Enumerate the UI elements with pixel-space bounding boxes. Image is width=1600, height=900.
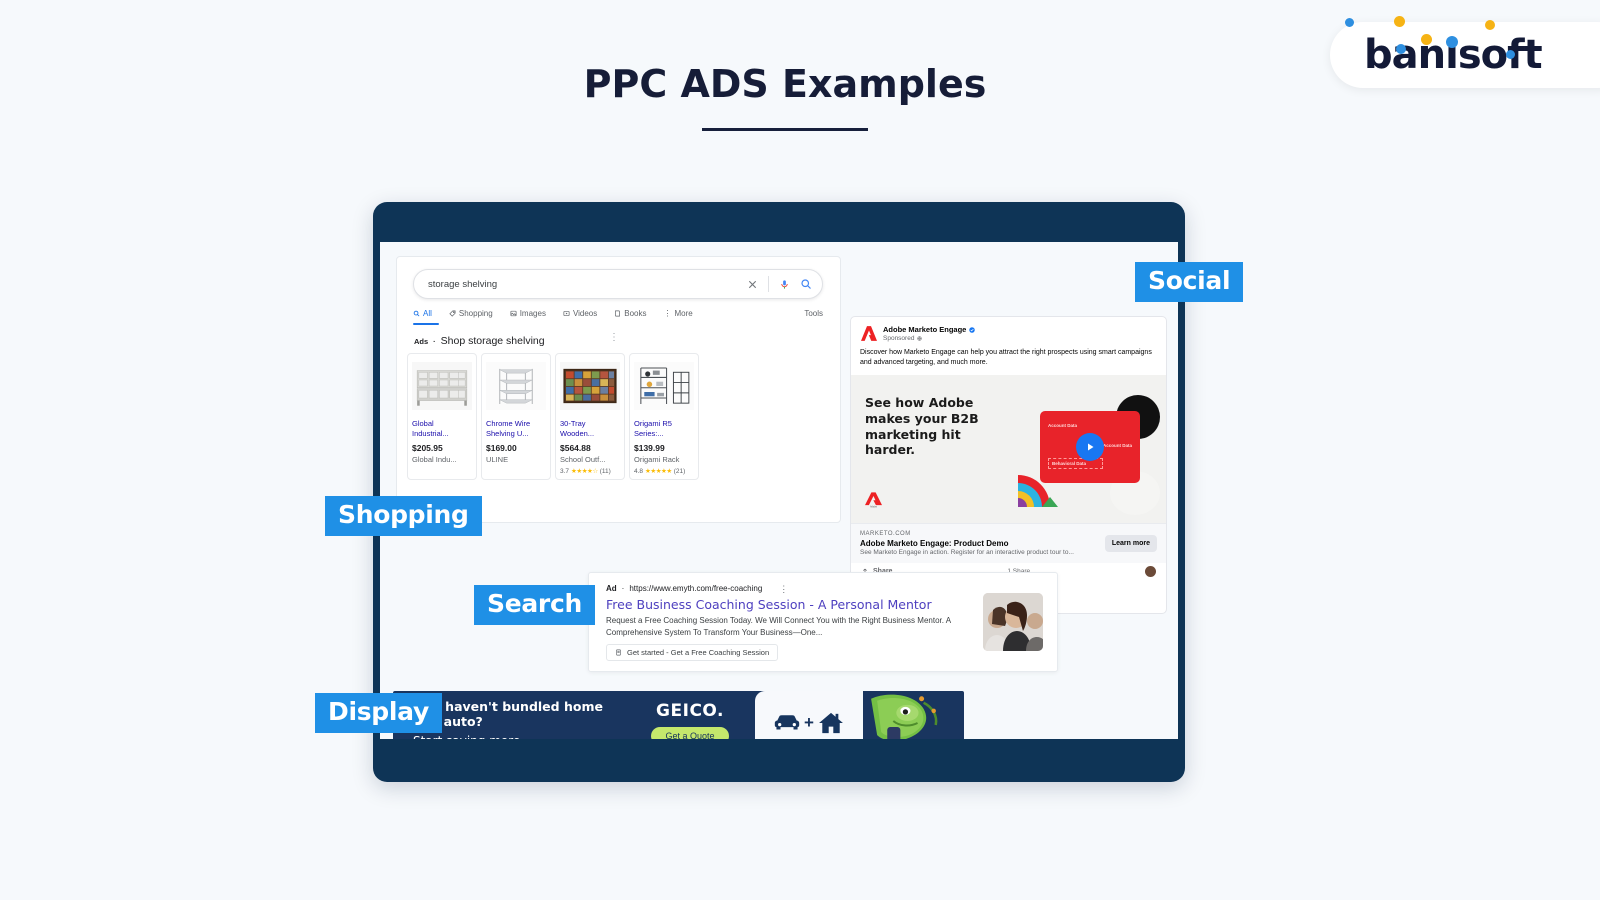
product-price: $139.99 [634, 443, 694, 453]
label-display: Display [315, 693, 442, 733]
serp-tab-label: All [423, 309, 432, 318]
social-ad-headline: Adobe Marketo Engage: Product Demo [860, 539, 1105, 548]
social-ad-body-text: Discover how Marketo Engage can help you… [851, 346, 1166, 375]
close-icon[interactable] [747, 279, 758, 290]
serp-tab-active-underline [413, 323, 439, 325]
video-thumbnail[interactable]: Account Data Account Data Behavioral Dat… [1040, 411, 1140, 483]
product-store: Origami Rack [634, 455, 694, 464]
product-rating: 4.8 ★★★★★ (21) [634, 467, 694, 475]
shopping-card[interactable]: 30-Tray Wooden... $564.88 School Outf...… [555, 353, 625, 480]
logo-dot-icon [1396, 44, 1406, 54]
video-icon [563, 310, 570, 317]
product-price: $169.00 [486, 443, 546, 453]
serp-tab-label: Videos [573, 309, 597, 318]
serp-tools-button[interactable]: Tools [804, 309, 823, 318]
social-page-name: Adobe Marketo Engage [883, 325, 966, 334]
house-icon [818, 712, 844, 734]
ad-tag-label: Ad [606, 584, 617, 593]
car-icon [774, 714, 800, 732]
product-review-count: (11) [600, 468, 611, 475]
shopping-cards-row: Global Industrial... $205.95 Global Indu… [407, 353, 699, 480]
microphone-icon[interactable] [779, 279, 790, 290]
geico-logo: GEICO. [656, 701, 724, 721]
serp-tab-all[interactable]: All [413, 309, 432, 318]
display-ad-brand-block: GEICO. Get a Quote [625, 701, 755, 739]
learn-more-button[interactable]: Learn more [1105, 535, 1157, 552]
search-ad-card: Ad · https://www.emyth.com/free-coaching… [588, 572, 1058, 672]
search-input[interactable]: storage shelving [428, 279, 747, 290]
label-shopping: Shopping [325, 496, 482, 536]
monitor-screen: storage shelving All Shopping [380, 242, 1178, 739]
display-ad-line1: Still haven't bundled home and auto? [413, 699, 625, 729]
social-ad-subtext: See Marketo Engage in action. Register f… [860, 549, 1105, 556]
gecko-mascot [863, 691, 964, 739]
ad-options-icon[interactable]: ⋮ [779, 585, 788, 593]
shopping-card[interactable]: Chrome Wire Shelving U... $169.00 ULINE [481, 353, 551, 480]
avatar[interactable] [1145, 566, 1156, 577]
search-icon [413, 310, 420, 317]
label-search: Search [474, 585, 595, 625]
ad-separator: · [622, 584, 625, 593]
video-label: Account Data [1048, 423, 1077, 428]
stars-icon: ★★★★☆ [571, 467, 598, 475]
product-price: $205.95 [412, 443, 472, 453]
play-button-icon[interactable] [1076, 433, 1104, 461]
product-image [412, 358, 472, 414]
product-review-count: (21) [674, 468, 686, 475]
ads-title-label: Shop storage shelving [441, 335, 545, 347]
serp-tab-shopping[interactable]: Shopping [449, 309, 493, 318]
social-ad-header: Adobe Marketo Engage Sponsored [851, 317, 1166, 346]
logo-dot-icon [1345, 18, 1354, 27]
book-icon [614, 310, 621, 317]
svg-text:Adobe: Adobe [870, 506, 877, 508]
display-ad-line2: Start saving more. [413, 734, 625, 740]
video-label: Account Data [1103, 443, 1132, 448]
logo-dot-icon [1485, 20, 1495, 30]
social-ad-card: Adobe Marketo Engage Sponsored Discover … [850, 316, 1167, 614]
search-icon[interactable] [800, 278, 812, 290]
product-name[interactable]: Chrome Wire Shelving U... [486, 419, 546, 440]
stars-icon: ★★★★★ [645, 467, 672, 475]
ads-tag-label: Ads [414, 337, 428, 346]
creative-headline: See how Adobe makes your B2B marketing h… [865, 395, 1015, 458]
search-ad-sitelink-label: Get started - Get a Free Coaching Sessio… [627, 648, 769, 657]
social-ad-footer: MARKETO.COM Adobe Marketo Engage: Produc… [851, 523, 1166, 563]
display-ad-banner[interactable]: Still haven't bundled home and auto? Sta… [393, 691, 964, 739]
social-page-name-row[interactable]: Adobe Marketo Engage [883, 325, 975, 334]
product-store: School Outf... [560, 455, 620, 464]
serp-tab-images[interactable]: Images [510, 309, 546, 318]
product-rating: 3.7 ★★★★☆ (11) [560, 467, 620, 475]
shopping-card[interactable]: Origami R5 Series:... $139.99 Origami Ra… [629, 353, 699, 480]
page-title: PPC ADS Examples [0, 62, 1570, 106]
monitor-frame: storage shelving All Shopping [373, 202, 1185, 782]
tag-icon [449, 310, 456, 317]
verified-badge-icon [969, 327, 975, 333]
product-image [634, 358, 694, 414]
serp-tab-label: More [675, 309, 693, 318]
serp-nav: All Shopping Images Videos Books ⋮ More [413, 309, 823, 318]
shopping-ads-header: Ads · Shop storage shelving [414, 335, 545, 347]
product-price: $564.88 [560, 443, 620, 453]
social-ad-creative[interactable]: See how Adobe makes your B2B marketing h… [851, 375, 1166, 523]
serp-tab-books[interactable]: Books [614, 309, 646, 318]
social-ad-domain: MARKETO.COM [860, 531, 1105, 537]
adobe-logo-icon [860, 325, 877, 342]
search-ad-url-row: Ad · https://www.emyth.com/free-coaching… [589, 573, 1057, 593]
product-store: Global Indu... [412, 455, 472, 464]
more-icon: ⋮ [664, 309, 672, 318]
search-ad-sitelink[interactable]: Get started - Get a Free Coaching Sessio… [606, 644, 778, 661]
search-ad-thumbnail [983, 593, 1043, 651]
product-image [560, 358, 620, 414]
search-ad-url[interactable]: https://www.emyth.com/free-coaching [629, 584, 762, 593]
divider [768, 276, 769, 292]
ads-separator: · [433, 337, 436, 346]
serp-tab-label: Shopping [459, 309, 493, 318]
serp-tab-more[interactable]: ⋮ More [664, 309, 693, 318]
sponsored-label: Sponsored [883, 335, 914, 342]
globe-icon [917, 336, 922, 341]
ads-options-icon[interactable]: ⋮ [609, 333, 619, 343]
google-serp-card: storage shelving All Shopping [396, 256, 841, 523]
title-underline [702, 128, 868, 131]
label-social: Social [1135, 262, 1243, 302]
document-icon [615, 649, 622, 656]
product-store: ULINE [486, 455, 546, 464]
logo-dot-icon [1394, 16, 1405, 27]
search-bar[interactable]: storage shelving [413, 269, 823, 299]
product-name[interactable]: Origami R5 Series:... [634, 419, 694, 440]
product-image [486, 358, 546, 414]
logo-dot-icon [1421, 34, 1432, 45]
logo-dot-icon [1446, 36, 1458, 48]
product-rating-value: 3.7 [560, 468, 569, 475]
social-sponsored-row: Sponsored [883, 335, 975, 342]
plus-icon: + [804, 713, 814, 733]
serp-tab-videos[interactable]: Videos [563, 309, 597, 318]
adobe-logo-icon: Adobe [865, 491, 882, 513]
serp-tab-label: Images [520, 309, 546, 318]
shopping-card[interactable]: Global Industrial... $205.95 Global Indu… [407, 353, 477, 480]
product-name[interactable]: Global Industrial... [412, 419, 472, 440]
logo-dot-icon [1506, 50, 1515, 59]
image-icon [510, 310, 517, 317]
get-a-quote-button[interactable]: Get a Quote [651, 727, 728, 739]
product-name[interactable]: 30-Tray Wooden... [560, 419, 620, 440]
serp-tab-label: Books [624, 309, 646, 318]
display-ad-icon-panel: + [755, 691, 863, 739]
product-rating-value: 4.8 [634, 468, 643, 475]
